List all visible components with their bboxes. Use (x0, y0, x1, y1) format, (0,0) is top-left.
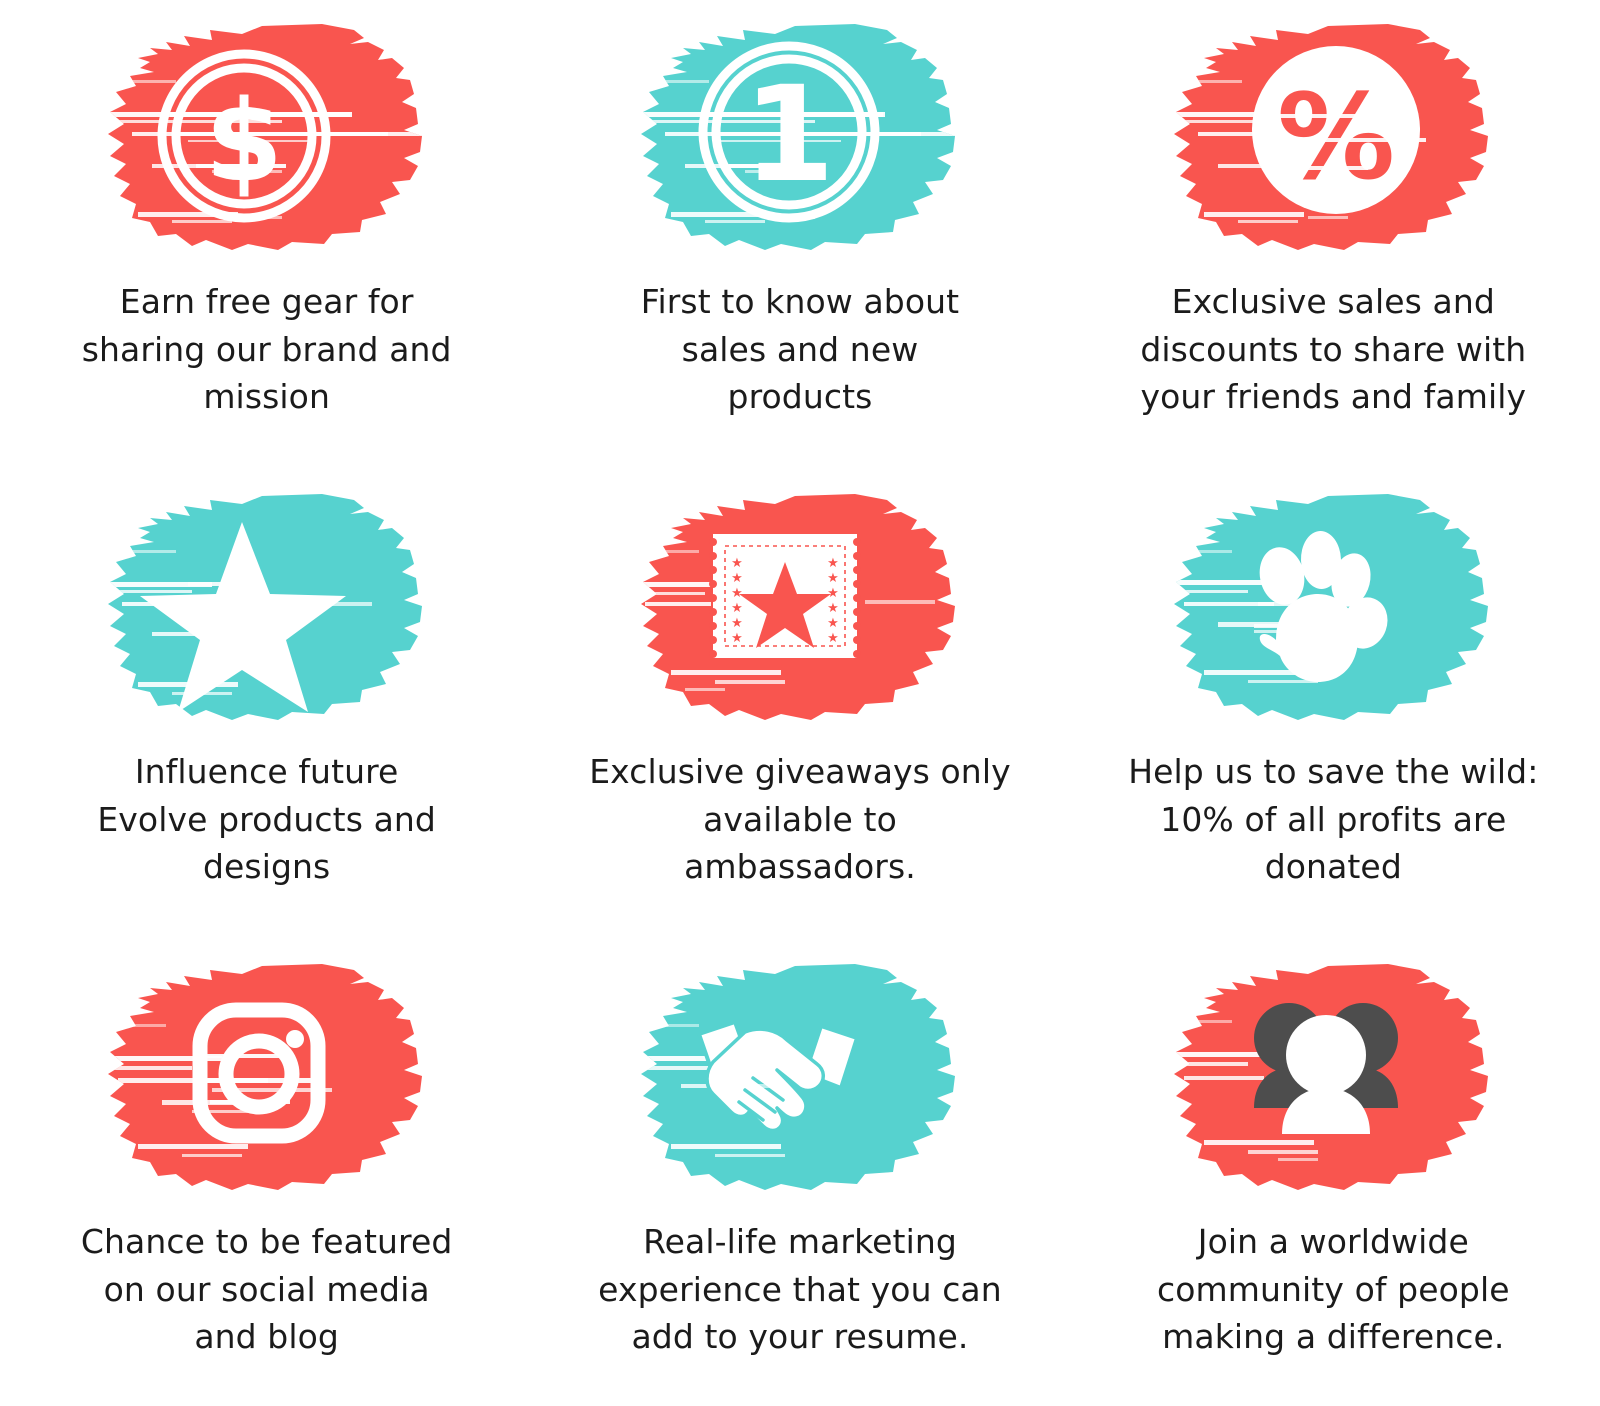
benefit-caption-3: Exclusive sales and discounts to share w… (1118, 278, 1548, 421)
people-group-icon (1158, 960, 1508, 1192)
svg-text:★: ★ (731, 556, 743, 571)
instagram-icon (92, 960, 442, 1192)
svg-text:★: ★ (827, 601, 839, 616)
benefit-card-7: Chance to be featured on our social medi… (0, 940, 533, 1406)
benefit-caption-8: Real-life marketing experience that you … (580, 1218, 1020, 1361)
benefit-card-6: Help us to save the wild: 10% of all pro… (1067, 470, 1600, 940)
svg-text:★: ★ (731, 601, 743, 616)
benefit-card-2: 1 First to know about sales and new prod… (533, 0, 1066, 470)
benefit-caption-4: Influence future Evolve products and des… (67, 748, 467, 891)
star-icon (92, 490, 442, 722)
svg-text:★: ★ (827, 631, 839, 646)
svg-text:★: ★ (827, 586, 839, 601)
badge-paw-print (1158, 490, 1508, 722)
badge-instagram (92, 960, 442, 1192)
ticket-star-icon: ★★ ★★ ★★ ★★ ★★ ★★ (625, 490, 975, 722)
badge-handshake (625, 960, 975, 1192)
benefit-card-5: ★★ ★★ ★★ ★★ ★★ ★★ Exclusive giveaways on… (533, 470, 1066, 940)
handshake-icon (625, 960, 975, 1192)
benefit-caption-6: Help us to save the wild: 10% of all pro… (1123, 748, 1543, 891)
benefit-caption-5: Exclusive giveaways only available to am… (575, 748, 1025, 891)
benefit-card-9: Join a worldwide community of people mak… (1067, 940, 1600, 1406)
svg-text:$: $ (205, 77, 283, 207)
benefit-caption-2: First to know about sales and new produc… (615, 278, 985, 421)
dollar-coin-icon: $ (92, 20, 442, 252)
badge-percent-discount: % (1158, 20, 1508, 252)
badge-ticket-star: ★★ ★★ ★★ ★★ ★★ ★★ (625, 490, 975, 722)
svg-text:%: % (1277, 68, 1395, 206)
badge-number-one-coin: 1 (625, 20, 975, 252)
benefit-card-3: % Exclusive sales and discounts to share… (1067, 0, 1600, 470)
svg-text:★: ★ (731, 586, 743, 601)
benefit-caption-7: Chance to be featured on our social medi… (57, 1218, 477, 1361)
percent-discount-icon: % (1158, 20, 1508, 252)
benefit-caption-1: Earn free gear for sharing our brand and… (57, 278, 477, 421)
svg-text:★: ★ (731, 631, 743, 646)
paw-print-icon (1158, 490, 1508, 722)
svg-text:★: ★ (827, 616, 839, 631)
benefit-card-8: Real-life marketing experience that you … (533, 940, 1066, 1406)
badge-people-group (1158, 960, 1508, 1192)
svg-text:★: ★ (731, 571, 743, 586)
badge-dollar-coin: $ (92, 20, 442, 252)
benefits-grid: $ Earn free gear for sharing our brand a… (0, 0, 1600, 1406)
benefit-card-1: $ Earn free gear for sharing our brand a… (0, 0, 533, 470)
svg-text:★: ★ (827, 556, 839, 571)
svg-text:★: ★ (827, 571, 839, 586)
benefit-card-4: Influence future Evolve products and des… (0, 470, 533, 940)
badge-star (92, 490, 442, 722)
number-one-coin-icon: 1 (625, 20, 975, 252)
svg-text:★: ★ (731, 616, 743, 631)
benefit-caption-9: Join a worldwide community of people mak… (1133, 1218, 1533, 1361)
